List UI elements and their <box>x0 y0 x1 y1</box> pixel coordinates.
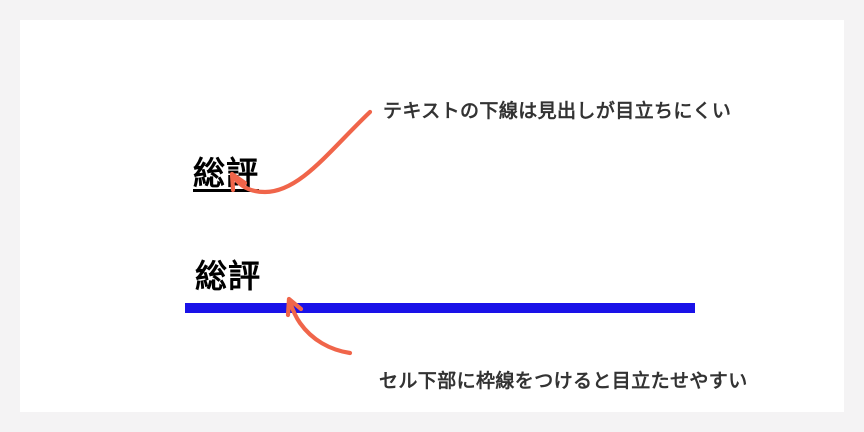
heading-cell-border: 総評 <box>195 260 261 292</box>
annotation-text-underline: テキストの下線は見出しが目立ちにくい <box>383 102 731 121</box>
white-card: 総評 テキストの下線は見出しが目立ちにくい 総評 セル下部に枠線をつけると目立た… <box>20 20 844 412</box>
blue-bottom-border-rule <box>185 303 695 313</box>
annotation-cell-border: セル下部に枠線をつけると目立たせやすい <box>379 372 748 391</box>
slide-stage: 総評 テキストの下線は見出しが目立ちにくい 総評 セル下部に枠線をつけると目立た… <box>0 0 864 432</box>
heading-text-underline: 総評 <box>193 157 259 189</box>
